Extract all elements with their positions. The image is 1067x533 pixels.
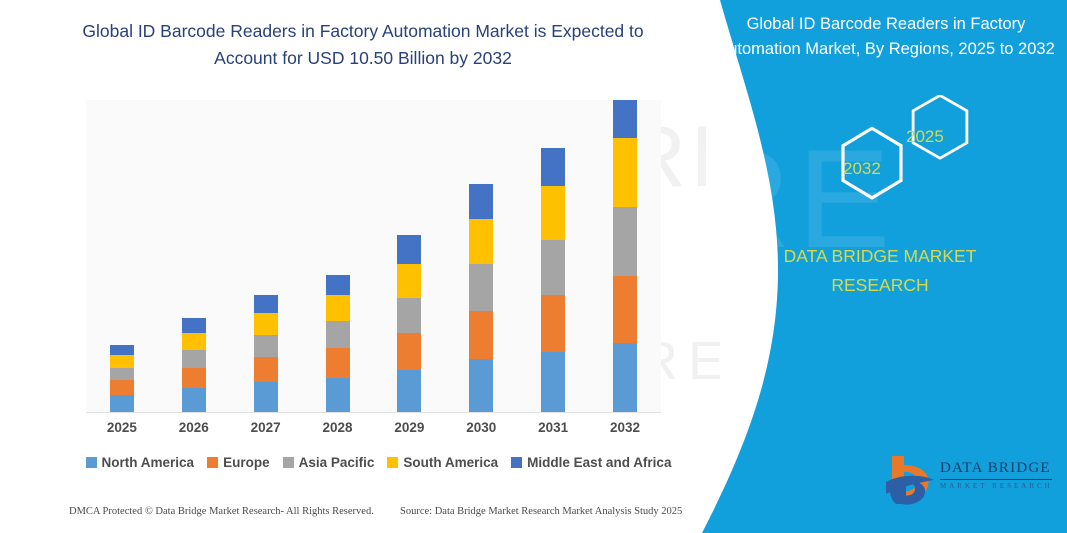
bar-segment [110, 368, 134, 381]
bar-segment [541, 148, 565, 186]
hexagon-label-2032: 2032 [843, 159, 881, 179]
bar-segment [254, 335, 278, 358]
x-axis-label: 2029 [378, 420, 441, 435]
stacked-bar [254, 295, 278, 413]
bar-column [450, 100, 513, 413]
bar-segment [397, 298, 421, 333]
legend-item[interactable]: South America [387, 455, 498, 470]
stacked-bar [541, 148, 565, 413]
bar-segment [326, 295, 350, 321]
bar-column [594, 100, 657, 413]
legend-label: Asia Pacific [299, 455, 375, 470]
x-axis-label: 2031 [522, 420, 585, 435]
legend-swatch-icon [511, 457, 522, 468]
bar-segment [613, 343, 637, 413]
x-axis-label: 2030 [450, 420, 513, 435]
hexagon-label-2025: 2025 [906, 127, 944, 147]
bar-segment [613, 100, 637, 138]
bar-column [90, 100, 153, 413]
footer-dmca-text: DMCA Protected © Data Bridge Market Rese… [69, 506, 374, 517]
bar-segment [541, 186, 565, 240]
logo-wordmark: DATA BRIDGE MARKET RESEARCH [940, 460, 1060, 490]
infographic-page: DATABRIDGE MARKET RESEARCH Global ID Bar… [0, 0, 1067, 533]
legend-swatch-icon [207, 457, 218, 468]
footer: DMCA Protected © Data Bridge Market Rese… [0, 506, 700, 526]
bar-segment [469, 184, 493, 219]
data-bridge-logo-icon [882, 452, 936, 508]
stacked-bar [326, 275, 350, 413]
bar-segment [326, 321, 350, 348]
legend-item[interactable]: Middle East and Africa [511, 455, 671, 470]
legend-label: Middle East and Africa [527, 455, 671, 470]
legend-item[interactable]: North America [86, 455, 195, 470]
bar-segment [182, 388, 206, 413]
bar-segment [110, 380, 134, 395]
x-axis-label: 2032 [594, 420, 657, 435]
bar-segment [254, 382, 278, 413]
logo-name: DATA BRIDGE [940, 460, 1060, 477]
legend-swatch-icon [283, 457, 294, 468]
bar-column [162, 100, 225, 413]
legend-swatch-icon [86, 457, 97, 468]
bar-segment [397, 333, 421, 370]
bar-segment [110, 355, 134, 368]
bar-segment [110, 345, 134, 355]
legend-label: South America [403, 455, 498, 470]
panel-brand-line-1: DATA BRIDGE MARKET [730, 242, 1030, 271]
stacked-bar [182, 318, 206, 413]
brand-logo: DATA BRIDGE MARKET RESEARCH [882, 452, 1057, 508]
bar-column [378, 100, 441, 413]
chart-legend: North AmericaEuropeAsia PacificSouth Ame… [86, 455, 671, 470]
x-axis-label: 2026 [162, 420, 225, 435]
bar-segment [613, 276, 637, 343]
bar-column [522, 100, 585, 413]
bar-segment [469, 359, 493, 413]
bar-segment [397, 235, 421, 264]
panel-brand-line-2: RESEARCH [730, 271, 1030, 300]
stacked-bar [469, 184, 493, 413]
bar-segment [254, 357, 278, 382]
bar-segment [182, 333, 206, 350]
stacked-bar [397, 235, 421, 413]
legend-item[interactable]: Asia Pacific [283, 455, 375, 470]
logo-divider [940, 479, 1052, 480]
bar-segment [326, 275, 350, 296]
x-axis-labels: 20252026202720282029203020312032 [86, 420, 661, 435]
bar-segment [541, 240, 565, 295]
logo-tagline: MARKET RESEARCH [940, 482, 1060, 490]
x-axis-line [86, 412, 661, 413]
x-axis-label: 2025 [90, 420, 153, 435]
bar-segment [326, 348, 350, 378]
bar-segment [613, 207, 637, 276]
bar-segment [182, 368, 206, 388]
bar-segment [254, 295, 278, 313]
x-axis-label: 2027 [234, 420, 297, 435]
bar-segment [469, 311, 493, 359]
bar-column [306, 100, 369, 413]
plot-area [86, 100, 661, 413]
chart-panel: DATABRIDGE MARKET RESEARCH Global ID Bar… [0, 0, 720, 533]
bar-segment [469, 219, 493, 264]
stacked-bar [110, 345, 134, 413]
bar-segment [541, 352, 565, 413]
bar-segment [254, 313, 278, 334]
panel-title: Global ID Barcode Readers in Factory Aut… [712, 12, 1060, 62]
bar-segment [397, 264, 421, 298]
bar-segment [469, 264, 493, 311]
stacked-bar [613, 100, 637, 413]
panel-brand-text: DATA BRIDGE MARKET RESEARCH [730, 242, 1030, 300]
bar-segment [613, 138, 637, 207]
chart-title: Global ID Barcode Readers in Factory Aut… [58, 18, 668, 72]
bar-segment [110, 395, 134, 413]
bar-segment [397, 370, 421, 413]
bar-column [234, 100, 297, 413]
bar-segment [541, 295, 565, 352]
x-axis-label: 2028 [306, 420, 369, 435]
legend-label: Europe [223, 455, 270, 470]
bar-segment [326, 378, 350, 413]
hexagon-shapes-icon [810, 95, 1010, 205]
hexagon-group: 2032 2025 [810, 95, 1010, 205]
bar-segment [182, 318, 206, 333]
bar-group [86, 100, 661, 413]
legend-swatch-icon [387, 457, 398, 468]
legend-item[interactable]: Europe [207, 455, 270, 470]
footer-source-text: Source: Data Bridge Market Research Mark… [400, 506, 682, 517]
legend-label: North America [102, 455, 195, 470]
bar-segment [182, 350, 206, 368]
